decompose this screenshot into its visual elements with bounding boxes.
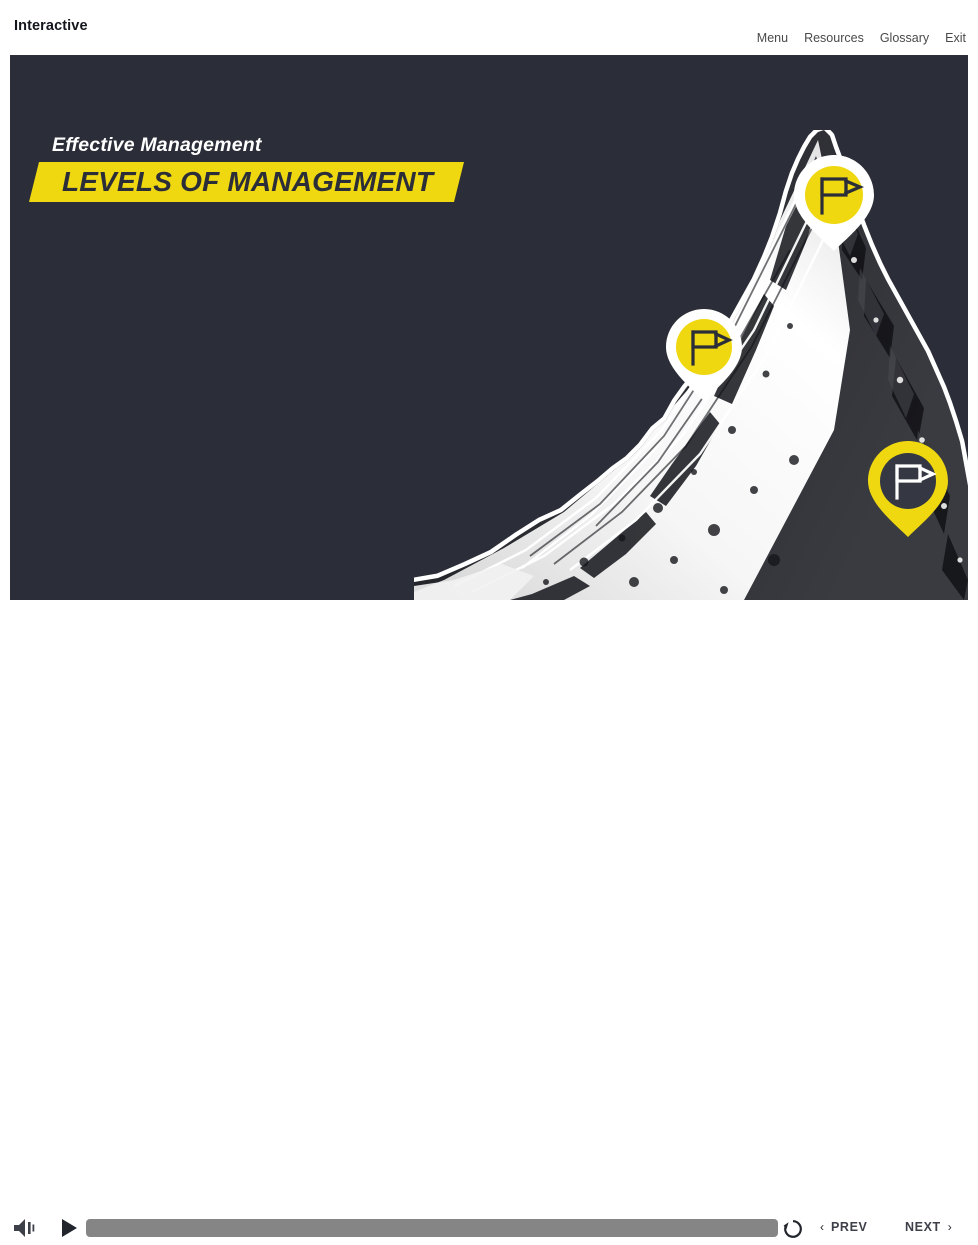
next-label: NEXT <box>905 1220 941 1234</box>
play-icon <box>58 1218 80 1238</box>
slide-stage: Effective Management LEVELS OF MANAGEMEN… <box>10 55 968 600</box>
map-pin-dark <box>862 439 954 539</box>
replay-button[interactable] <box>782 1218 804 1240</box>
next-button[interactable]: NEXT › <box>905 1220 952 1234</box>
top-navigation: Menu Resources Glossary Exit <box>757 31 966 45</box>
player-control-bar: ‹ PREV NEXT › <box>0 600 978 656</box>
volume-button[interactable] <box>12 1217 38 1239</box>
chevron-right-icon: › <box>948 1220 952 1234</box>
marker-3[interactable] <box>862 439 954 539</box>
play-button[interactable] <box>58 1218 80 1238</box>
page-title: LEVELS OF MANAGEMENT <box>62 162 433 202</box>
progress-scrubber[interactable] <box>86 1219 778 1237</box>
map-pin-light <box>658 307 750 403</box>
marker-1[interactable] <box>786 153 882 253</box>
nav-exit[interactable]: Exit <box>945 31 966 45</box>
prev-button[interactable]: ‹ PREV <box>820 1220 867 1234</box>
app-title: Interactive <box>14 18 88 34</box>
nav-resources[interactable]: Resources <box>804 31 864 45</box>
nav-menu[interactable]: Menu <box>757 31 788 45</box>
slide-title-banner: LEVELS OF MANAGEMENT <box>34 162 459 202</box>
chevron-left-icon: ‹ <box>820 1220 824 1234</box>
slide-eyebrow: Effective Management <box>52 134 262 157</box>
prev-label: PREV <box>831 1220 867 1234</box>
marker-2[interactable] <box>658 307 750 403</box>
nav-glossary[interactable]: Glossary <box>880 31 929 45</box>
map-pin-light <box>786 153 882 253</box>
volume-icon <box>12 1217 38 1239</box>
top-bar: Interactive Menu Resources Glossary Exit <box>0 0 978 55</box>
replay-icon <box>782 1218 804 1240</box>
